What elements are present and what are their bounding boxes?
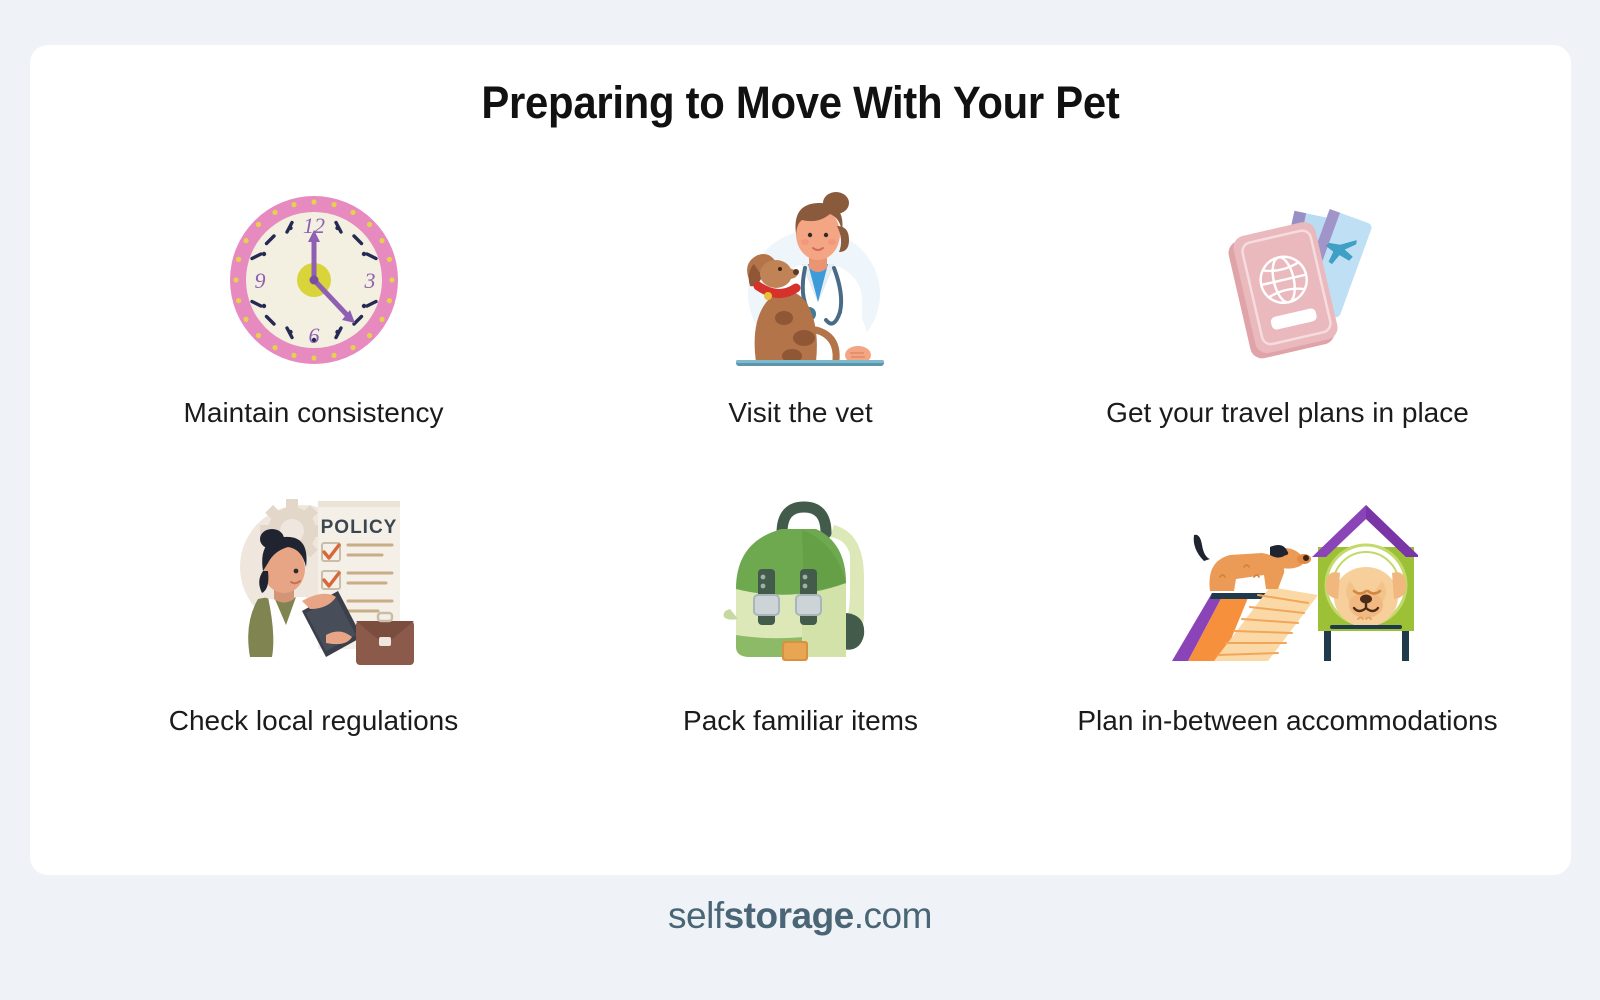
backpack-icon	[706, 475, 896, 675]
tip-item-travel-plans[interactable]: Get your travel plans in place	[1044, 185, 1531, 475]
tip-label: Get your travel plans in place	[1106, 397, 1469, 429]
passport-tickets-icon	[1198, 185, 1378, 375]
tip-item-check-regulations[interactable]: POLICY	[70, 475, 557, 765]
logo-storage: storage	[724, 895, 854, 936]
policy-document-icon: POLICY	[214, 475, 414, 675]
selfstorage-logo[interactable]: selfstorage.com	[668, 895, 932, 936]
infographic-page: Preparing to Move With Your Pet	[0, 0, 1600, 1000]
svg-text:3: 3	[363, 268, 375, 293]
tips-grid: 12 3 6 9 Maintain consistency	[70, 185, 1531, 765]
veterinarian-icon	[706, 185, 896, 375]
footer: selfstorage.com	[0, 895, 1600, 937]
svg-text:POLICY: POLICY	[320, 517, 397, 538]
clock-icon: 12 3 6 9	[224, 185, 404, 375]
tip-label: Check local regulations	[169, 705, 459, 737]
tip-label: Maintain consistency	[184, 397, 444, 429]
page-title: Preparing to Move With Your Pet	[84, 77, 1517, 129]
dog-house-icon	[1158, 475, 1418, 675]
tip-label: Pack familiar items	[683, 705, 918, 737]
tip-item-plan-accommodations[interactable]: Plan in-between accommodations	[1044, 475, 1531, 765]
tip-label: Visit the vet	[728, 397, 872, 429]
svg-text:6: 6	[308, 323, 319, 348]
logo-dotcom: .com	[854, 895, 932, 936]
tip-item-maintain-consistency[interactable]: 12 3 6 9 Maintain consistency	[70, 185, 557, 475]
tip-item-visit-the-vet[interactable]: Visit the vet	[557, 185, 1044, 475]
tip-item-pack-familiar-items[interactable]: Pack familiar items	[557, 475, 1044, 765]
tip-label: Plan in-between accommodations	[1077, 705, 1497, 737]
svg-text:9: 9	[254, 268, 265, 293]
content-card: Preparing to Move With Your Pet	[30, 45, 1571, 875]
logo-self: self	[668, 895, 724, 936]
